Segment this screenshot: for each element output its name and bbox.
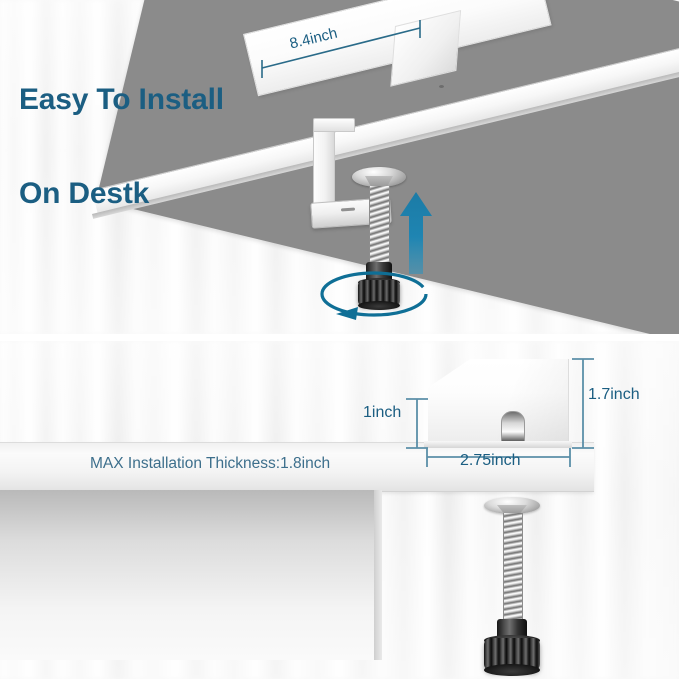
arrow-up-icon bbox=[398, 190, 434, 274]
clamp-base-plate-bottom bbox=[424, 441, 572, 448]
dimension-1-7-inch-label: 1.7inch bbox=[588, 386, 640, 404]
desk-leg-edge bbox=[374, 490, 382, 660]
clamp-bracket-slot bbox=[501, 411, 525, 445]
dimension-2-75-inch-label: 2.75inch bbox=[460, 452, 521, 470]
panel-install-top: 8.4inch Easy To Install On Destk bbox=[0, 0, 679, 334]
page-title-line-2: On Destk bbox=[19, 178, 224, 209]
panel-dimensions-bottom: MAX Installation Thickness:1.8inch bbox=[0, 341, 679, 679]
desk-leg bbox=[0, 490, 380, 660]
screw-shaft bbox=[369, 186, 390, 270]
clamp-bracket-hook bbox=[313, 118, 355, 132]
clamp-knob-bottom-face bbox=[484, 664, 540, 676]
clamp-bracket bbox=[313, 120, 335, 212]
max-thickness-label: MAX Installation Thickness:1.8inch bbox=[90, 455, 330, 473]
rotation-arrow-icon bbox=[318, 268, 430, 322]
dimension-1-inch-label: 1inch bbox=[363, 404, 401, 422]
clamp-screw-shaft bbox=[503, 513, 523, 628]
dimension-8-4-inch bbox=[250, 16, 450, 96]
infographic-root: 8.4inch Easy To Install On Destk MAX Ins… bbox=[0, 0, 679, 679]
page-title: Easy To Install On Destk bbox=[19, 22, 224, 272]
page-title-line-1: Easy To Install bbox=[19, 84, 224, 115]
